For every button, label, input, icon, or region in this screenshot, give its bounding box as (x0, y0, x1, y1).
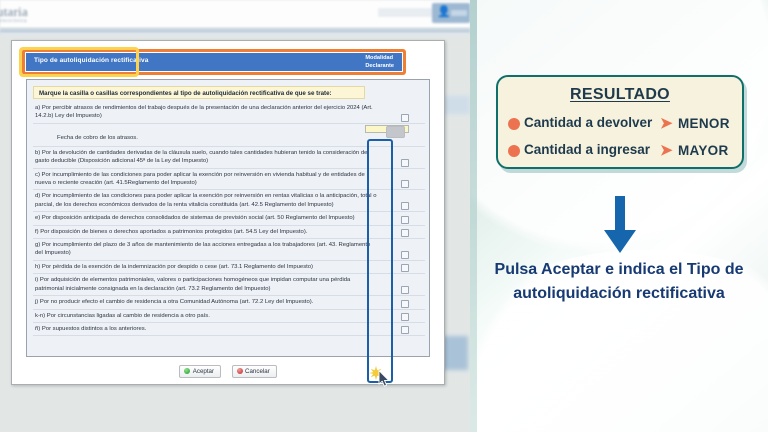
checkbox-f[interactable] (401, 229, 409, 237)
option-label: i) Por adquisición de elementos patrimon… (35, 276, 377, 293)
checkbox-e[interactable] (401, 216, 409, 224)
option-row[interactable]: a) Por percibir atrasos de rendimientos … (33, 102, 425, 124)
checkbox-c[interactable] (401, 180, 409, 188)
checkbox-g[interactable] (401, 251, 409, 259)
checkbox-n-tilde[interactable] (401, 326, 409, 334)
calendar-icon[interactable] (386, 126, 405, 138)
title-highlight-yellow (19, 47, 139, 77)
option-label: Fecha de cobro de los atrasos. (57, 135, 138, 141)
resultado-card: RESULTADO Cantidad a devolver ➤ MENOR Ca… (496, 75, 744, 169)
bullet-icon (508, 145, 520, 157)
option-label: j) Por no producir efecto el cambio de r… (35, 298, 377, 306)
option-label: b) Por la devolución de cantidades deriv… (35, 149, 377, 166)
header-user-button[interactable]: 👤 (432, 3, 470, 23)
instruction-banner: Marque la casilla o casillas correspondi… (33, 86, 365, 99)
checkbox-a[interactable] (401, 114, 409, 122)
checkbox-b[interactable] (401, 159, 409, 167)
accept-button[interactable]: Aceptar (179, 365, 221, 378)
accept-check-icon (184, 368, 190, 374)
accept-button-label: Aceptar (193, 368, 214, 375)
header-search-box[interactable] (378, 8, 440, 17)
checkbox-h[interactable] (401, 264, 409, 272)
option-label: e) Por disposición anticipada de derecho… (35, 214, 377, 222)
autoliquidacion-dialog: Tipo de autoliquidación rectificativa Mo… (11, 40, 445, 385)
checkbox-d[interactable] (401, 202, 409, 210)
infographic-pane: RESULTADO Cantidad a devolver ➤ MENOR Ca… (470, 0, 768, 432)
resultado-row-value: MENOR (678, 116, 730, 131)
option-label: ñ) Por supuestos distintos a los anterio… (35, 325, 377, 333)
option-label: c) Por incumplimiento de las condiciones… (35, 171, 377, 188)
option-label: a) Por percibir atrasos de rendimientos … (35, 104, 377, 121)
cancel-button-label: Cancelar (245, 368, 270, 375)
option-label: h) Por pérdida de la exención de la inde… (35, 263, 377, 271)
checkbox-column-highlight (367, 139, 393, 383)
resultado-row-value: MAYOR (678, 143, 729, 158)
header-user-label (451, 10, 467, 16)
cancel-stop-icon (237, 368, 243, 374)
app-header: ributaria Sede electrónica 👤 (0, 0, 470, 28)
option-label: k-n) Por circunstancias ligadas al cambi… (35, 312, 377, 320)
resultado-row-ingresar: Cantidad a ingresar ➤ MAYOR (508, 140, 740, 162)
checkbox-k-n[interactable] (401, 313, 409, 321)
dialog-button-bar: Aceptar Cancelar (12, 363, 444, 381)
cta-text: Pulsa Aceptar e indica el Tipo de autoli… (484, 258, 754, 306)
pane-left-edge (470, 0, 477, 432)
option-label: f) Por disposición de bienes o derechos … (35, 228, 377, 236)
brand-subtitle: Sede electrónica (0, 18, 27, 23)
option-label: g) Por incumplimiento del plazo de 3 año… (35, 241, 377, 258)
screenshot-root: ributaria Sede electrónica 👤 s de interé… (0, 0, 768, 432)
cancel-button[interactable]: Cancelar (232, 365, 277, 378)
resultado-row-devolver: Cantidad a devolver ➤ MENOR (508, 113, 740, 135)
resultado-title: RESULTADO (498, 86, 742, 104)
arrow-right-icon: ➤ (660, 143, 673, 158)
arrow-right-icon: ➤ (660, 116, 673, 131)
bullet-icon (508, 118, 520, 130)
instruction-text: Marque la casilla o casillas correspondi… (39, 90, 332, 97)
browser-app-pane: ributaria Sede electrónica 👤 s de interé… (0, 0, 470, 432)
resultado-row-label: Cantidad a devolver (524, 115, 652, 130)
user-card-icon: 👤 (437, 7, 448, 19)
checkbox-j[interactable] (401, 300, 409, 308)
down-arrow-icon (598, 196, 642, 254)
date-input[interactable] (365, 125, 409, 133)
option-label: d) Por incumplimiento de las condiciones… (35, 192, 377, 209)
checkbox-i[interactable] (401, 286, 409, 294)
resultado-row-label: Cantidad a ingresar (524, 142, 650, 157)
